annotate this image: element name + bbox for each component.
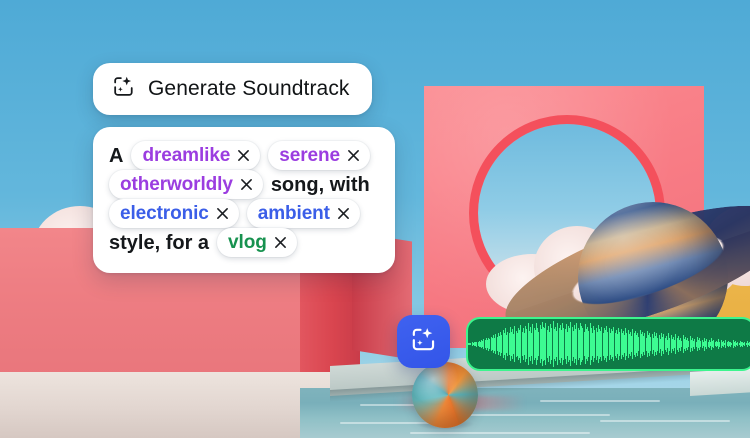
prompt-static-text: A bbox=[109, 146, 123, 166]
close-x-icon[interactable] bbox=[347, 149, 360, 162]
close-x-icon[interactable] bbox=[237, 149, 250, 162]
generate-soundtrack-button[interactable]: Generate Soundtrack bbox=[93, 63, 372, 115]
prompt-tag-label: ambient bbox=[258, 204, 330, 223]
prompt-tag-serene[interactable]: serene bbox=[268, 141, 370, 170]
generate-sparkle-icon bbox=[409, 325, 438, 359]
prompt-line: electronicambient bbox=[109, 199, 379, 228]
prompt-static-text: song, with bbox=[271, 175, 370, 195]
prompt-card[interactable]: Adreamlikesereneotherworldlysong, withel… bbox=[93, 127, 395, 273]
screenshot-root: Generate Soundtrack Adreamlikesereneothe… bbox=[0, 0, 750, 438]
waveform-bars bbox=[468, 319, 750, 369]
prompt-tag-label: dreamlike bbox=[142, 146, 230, 165]
prompt-tag-label: serene bbox=[279, 146, 340, 165]
generate-soundtrack-label: Generate Soundtrack bbox=[148, 77, 350, 101]
beach-ball bbox=[412, 362, 478, 428]
prompt-line: style, for avlog bbox=[109, 228, 379, 257]
pool-far-edge bbox=[690, 368, 750, 396]
generate-fab-button[interactable] bbox=[397, 315, 450, 368]
close-x-icon[interactable] bbox=[216, 207, 229, 220]
prompt-tag-ambient[interactable]: ambient bbox=[247, 199, 360, 228]
close-x-icon[interactable] bbox=[274, 236, 287, 249]
generate-sparkle-icon bbox=[111, 74, 136, 104]
prompt-line: otherworldlysong, with bbox=[109, 170, 379, 199]
audio-waveform-panel[interactable] bbox=[466, 317, 750, 371]
prompt-tag-label: otherworldly bbox=[120, 175, 233, 194]
prompt-tag-electronic[interactable]: electronic bbox=[109, 199, 239, 228]
prompt-tag-dreamlike[interactable]: dreamlike bbox=[131, 141, 260, 170]
prompt-tag-label: vlog bbox=[228, 233, 267, 252]
prompt-static-text: style, for a bbox=[109, 233, 209, 253]
close-x-icon[interactable] bbox=[337, 207, 350, 220]
prompt-tag-vlog[interactable]: vlog bbox=[217, 228, 297, 257]
prompt-tag-otherworldly[interactable]: otherworldly bbox=[109, 170, 263, 199]
prompt-line: Adreamlikeserene bbox=[109, 141, 379, 170]
prompt-tag-label: electronic bbox=[120, 204, 209, 223]
close-x-icon[interactable] bbox=[240, 178, 253, 191]
